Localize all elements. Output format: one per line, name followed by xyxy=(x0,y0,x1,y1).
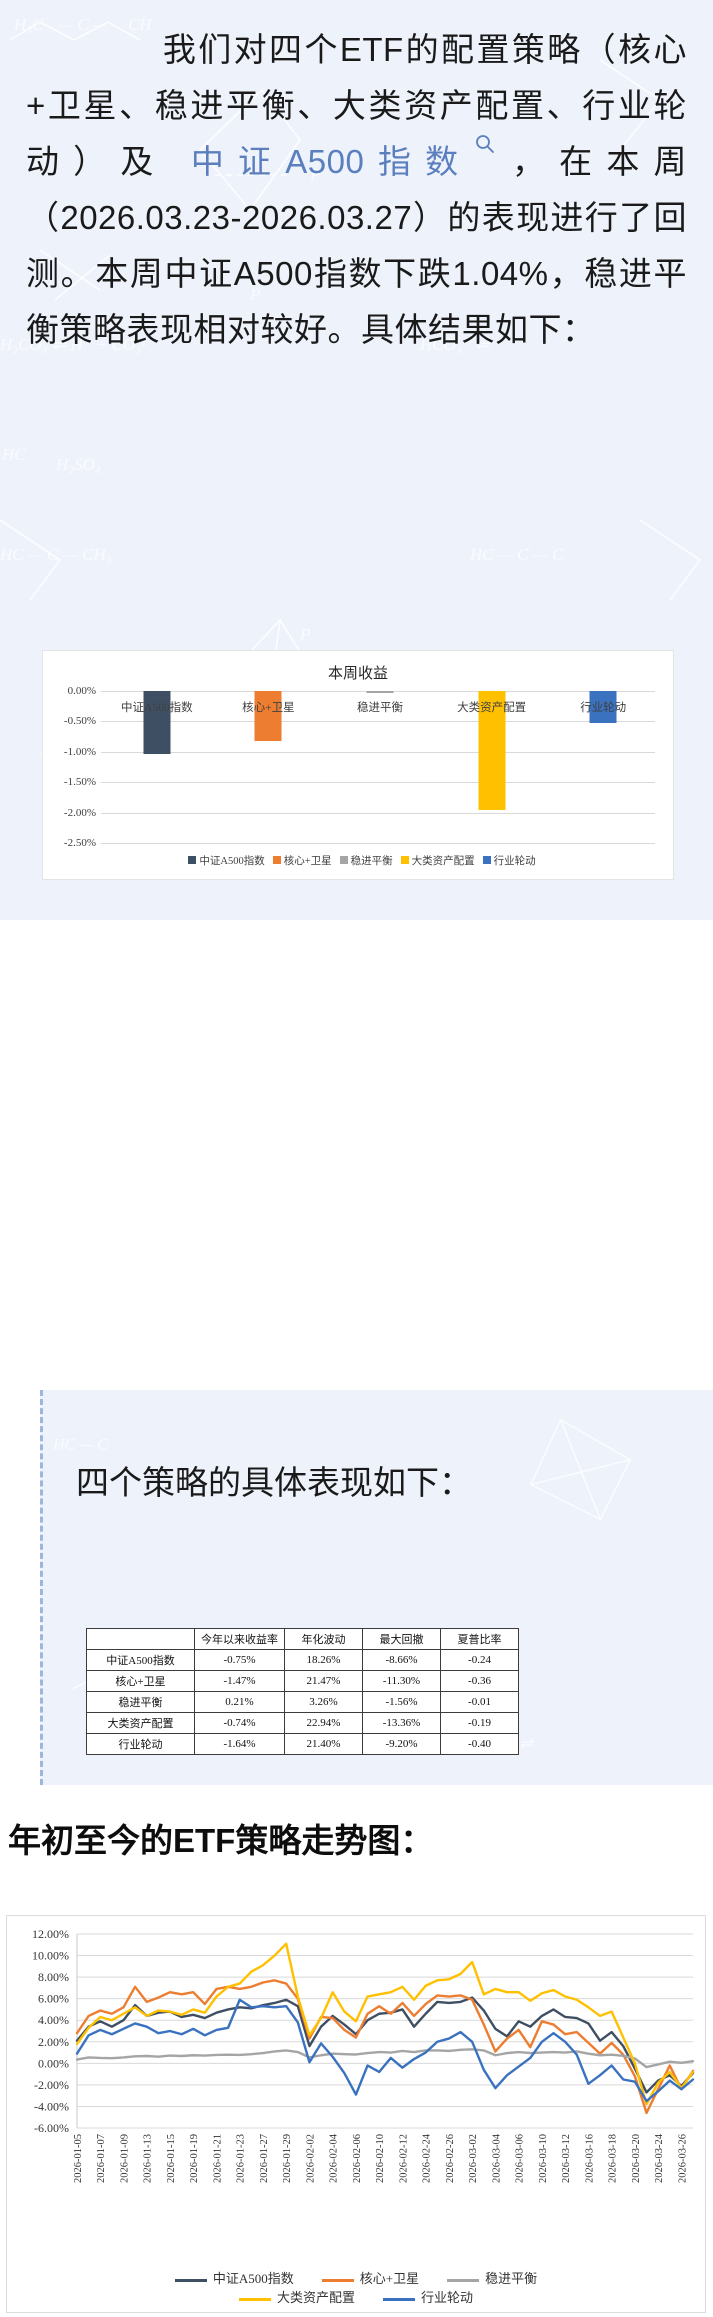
line-chart-y-tick-label: 6.00% xyxy=(38,1992,69,2006)
bar-chart-y-tick-label: -1.50% xyxy=(64,776,96,788)
line-chart-y-tick-label: -2.00% xyxy=(34,2078,69,2092)
table-cell: -1.56% xyxy=(363,1692,441,1713)
line-chart-svg: 12.00%10.00%8.00%6.00%4.00%2.00%0.00%-2.… xyxy=(7,1916,707,2314)
line-chart-x-tick-label: 2026-01-27 xyxy=(259,2134,270,2183)
table-col-header-1: 今年以来收益率 xyxy=(195,1629,285,1650)
line-chart-x-tick-label: 2026-01-23 xyxy=(236,2134,247,2183)
table-cell: -1.64% xyxy=(195,1734,285,1755)
line-chart-x-tick-label: 2026-03-12 xyxy=(561,2134,572,2183)
table-row: 核心+卫星-1.47%21.47%-11.30%-0.36 xyxy=(87,1671,519,1692)
line-chart-y-tick-label: 8.00% xyxy=(38,1970,69,1984)
line-chart-x-tick-label: 2026-01-21 xyxy=(212,2134,223,2183)
svg-text:HC — C — CH₃: HC — C — CH₃ xyxy=(0,545,112,564)
table-row: 行业轮动-1.64%21.40%-9.20%-0.40 xyxy=(87,1734,519,1755)
table-cell: 21.47% xyxy=(285,1671,363,1692)
bar-chart-bar xyxy=(366,691,393,693)
line-chart-x-tick-label: 2026-01-13 xyxy=(143,2134,154,2183)
svg-text:P: P xyxy=(299,625,310,644)
line-chart-y-tick-label: 4.00% xyxy=(38,2013,69,2027)
bar-legend-label: 核心+卫星 xyxy=(284,856,332,867)
line-chart-x-tick-label: 2026-02-04 xyxy=(329,2133,340,2183)
table-cell: -0.19 xyxy=(441,1713,519,1734)
table-cell: -8.66% xyxy=(363,1650,441,1671)
line-chart-series xyxy=(77,1944,693,2105)
table-cell: -1.47% xyxy=(195,1671,285,1692)
table-row-label: 核心+卫星 xyxy=(87,1671,195,1692)
table-cell: -9.20% xyxy=(363,1734,441,1755)
line-legend-swatch xyxy=(322,2279,354,2282)
line-legend-label: 稳进平衡 xyxy=(485,2271,537,2286)
table-cell: 3.26% xyxy=(285,1692,363,1713)
bar-chart-category-label: 大类资产配置 xyxy=(457,699,526,715)
bar-legend-swatch xyxy=(273,856,281,864)
table-cell: -0.01 xyxy=(441,1692,519,1713)
line-chart-x-tick-label: 2026-03-26 xyxy=(677,2134,688,2183)
line-legend-label: 核心+卫星 xyxy=(360,2271,419,2286)
line-chart-x-tick-label: 2026-01-15 xyxy=(166,2134,177,2183)
line-chart-x-tick-label: 2026-02-02 xyxy=(305,2134,316,2183)
search-icon[interactable] xyxy=(474,139,496,161)
line-chart-x-tick-label: 2026-02-12 xyxy=(398,2134,409,2183)
table-cell: -0.40 xyxy=(441,1734,519,1755)
svg-text:H₂SO₄: H₂SO₄ xyxy=(55,455,101,474)
intro-card: H₃C— C —CH HCH₂SO₄ HC — C — CH₃ HC — C —… xyxy=(0,0,713,920)
line-chart-x-tick-label: 2026-03-20 xyxy=(631,2134,642,2183)
bar-chart-title: 本周收益 xyxy=(43,662,673,683)
bar-legend-label: 中证A500指数 xyxy=(199,856,264,867)
line-chart-x-tick-label: 2026-03-06 xyxy=(515,2134,526,2183)
line-legend-item: 大类资产配置 xyxy=(239,2287,355,2306)
table-col-header-2: 年化波动 xyxy=(285,1629,363,1650)
bar-chart-category-label: 稳进平衡 xyxy=(357,699,403,715)
table-row: 大类资产配置-0.74%22.94%-13.36%-0.19 xyxy=(87,1713,519,1734)
line-chart-x-tick-label: 2026-03-04 xyxy=(491,2133,502,2183)
table-cell: 0.21% xyxy=(195,1692,285,1713)
line-chart-x-tick-label: 2026-01-19 xyxy=(189,2134,200,2183)
table-cell: -0.24 xyxy=(441,1650,519,1671)
table-col-header-0 xyxy=(87,1629,195,1650)
table-cell: -0.74% xyxy=(195,1713,285,1734)
svg-text:HC: HC xyxy=(1,445,26,464)
line-legend-item: 稳进平衡 xyxy=(447,2268,537,2287)
table-row: 稳进平衡0.21%3.26%-1.56%-0.01 xyxy=(87,1692,519,1713)
line-chart-x-tick-label: 2026-02-24 xyxy=(422,2133,433,2183)
bar-chart-category-label: 核心+卫星 xyxy=(242,699,295,715)
table-cell: 21.40% xyxy=(285,1734,363,1755)
line-chart-y-tick-label: 0.00% xyxy=(38,2056,69,2070)
line-chart-x-tick-label: 2026-03-18 xyxy=(608,2134,619,2183)
table-col-header-3: 最大回撤 xyxy=(363,1629,441,1650)
table-cell: -0.75% xyxy=(195,1650,285,1671)
bar-chart-column: 中证A500指数 xyxy=(101,691,213,843)
bar-chart-gridline: -2.50% xyxy=(101,843,655,844)
bar-legend-label: 大类资产配置 xyxy=(412,856,475,867)
line-chart-x-tick-label: 2026-01-29 xyxy=(282,2134,293,2183)
bar-legend-swatch xyxy=(401,856,409,864)
line-chart-y-tick-label: -4.00% xyxy=(34,2099,69,2113)
bar-chart-y-tick-label: 0.00% xyxy=(68,685,96,697)
table-row-label: 中证A500指数 xyxy=(87,1650,195,1671)
line-chart-y-tick-label: 12.00% xyxy=(32,1927,69,1941)
bar-chart-y-tick-label: -1.00% xyxy=(64,746,96,758)
line-chart-x-tick-label: 2026-03-16 xyxy=(584,2134,595,2183)
line-legend-swatch xyxy=(383,2298,415,2301)
line-chart-x-tick-label: 2026-01-07 xyxy=(96,2134,107,2183)
svg-text:HC — C — C: HC — C — C xyxy=(469,545,564,564)
bar-chart-plot-area: 0.00%-0.50%-1.00%-1.50%-2.00%-2.50%中证A50… xyxy=(101,691,659,843)
line-chart-x-tick-label: 2026-03-24 xyxy=(654,2133,665,2183)
table-header-row: 今年以来收益率 年化波动 最大回撤 夏普比率 xyxy=(87,1629,519,1650)
bar-legend-label: 稳进平衡 xyxy=(351,856,393,867)
section-2-heading: 四个策略的具体表现如下： xyxy=(76,1455,676,1511)
table-cell: 18.26% xyxy=(285,1650,363,1671)
line-chart-y-tick-label: 10.00% xyxy=(32,1949,69,1963)
table-cell: 22.94% xyxy=(285,1713,363,1734)
ytd-trend-line-chart: 12.00%10.00%8.00%6.00%4.00%2.00%0.00%-2.… xyxy=(6,1915,706,2313)
bar-legend-swatch xyxy=(483,856,491,864)
line-legend-swatch xyxy=(239,2298,271,2301)
bar-chart-y-tick-label: -0.50% xyxy=(64,715,96,727)
line-chart-x-tick-label: 2026-01-05 xyxy=(73,2134,84,2183)
line-chart-y-tick-label: -6.00% xyxy=(34,2121,69,2135)
line-chart-x-tick-label: 2026-01-09 xyxy=(119,2134,130,2183)
intro-paragraph: 我们对四个ETF的配置策略（核心+卫星、稳进平衡、大类资产配置、行业轮动）及 中… xyxy=(26,22,687,358)
line-legend-label: 大类资产配置 xyxy=(277,2290,355,2305)
bar-chart-y-tick-label: -2.00% xyxy=(64,807,96,819)
bar-chart-column: 核心+卫星 xyxy=(213,691,325,843)
table-row-label: 行业轮动 xyxy=(87,1734,195,1755)
bar-chart-legend: 中证A500指数核心+卫星稳进平衡大类资产配置行业轮动 xyxy=(43,853,673,868)
table-row: 中证A500指数-0.75%18.26%-8.66%-0.24 xyxy=(87,1650,519,1671)
line-chart-x-tick-label: 2026-02-06 xyxy=(352,2134,363,2183)
line-legend-swatch xyxy=(447,2279,479,2282)
table-row-label: 稳进平衡 xyxy=(87,1692,195,1713)
line-chart-x-tick-label: 2026-02-10 xyxy=(375,2134,386,2183)
bar-legend-label: 行业轮动 xyxy=(494,856,536,867)
line-chart-legend: 中证A500指数核心+卫星稳进平衡大类资产配置行业轮动 xyxy=(7,2268,705,2306)
table-col-header-4: 夏普比率 xyxy=(441,1629,519,1650)
table-cell: -13.36% xyxy=(363,1713,441,1734)
bar-chart-column: 稳进平衡 xyxy=(324,691,436,843)
section-3-heading: 年初至今的ETF策略走势图： xyxy=(8,1818,708,1864)
table-cell: -0.36 xyxy=(441,1671,519,1692)
bar-chart-column: 行业轮动 xyxy=(547,691,659,843)
line-legend-item: 中证A500指数 xyxy=(175,2268,294,2287)
article-page: H₃C— C —CH HCH₂SO₄ HC — C — CH₃ HC — C —… xyxy=(0,0,713,2317)
svg-text:HC — C: HC — C xyxy=(52,1437,108,1454)
line-legend-swatch xyxy=(175,2279,207,2282)
line-chart-series xyxy=(77,1980,693,2113)
line-legend-item: 核心+卫星 xyxy=(322,2268,419,2287)
line-legend-label: 行业轮动 xyxy=(421,2290,473,2305)
table-cell: -11.30% xyxy=(363,1671,441,1692)
weekly-return-bar-chart: 本周收益 0.00%-0.50%-1.00%-1.50%-2.00%-2.50%… xyxy=(42,650,674,880)
performance-table: 今年以来收益率 年化波动 最大回撤 夏普比率 中证A500指数-0.75%18.… xyxy=(86,1628,519,1755)
bar-legend-swatch xyxy=(340,856,348,864)
line-chart-y-tick-label: 2.00% xyxy=(38,2035,69,2049)
line-chart-x-tick-label: 2026-03-10 xyxy=(538,2134,549,2183)
line-chart-x-tick-label: 2026-03-02 xyxy=(468,2134,479,2183)
bar-chart-category-label: 行业轮动 xyxy=(580,699,626,715)
table-row-label: 大类资产配置 xyxy=(87,1713,195,1734)
index-link[interactable]: 中证A500指数 xyxy=(191,143,472,180)
line-legend-label: 中证A500指数 xyxy=(213,2271,294,2286)
line-chart-x-tick-label: 2026-02-26 xyxy=(445,2134,456,2183)
bar-chart-column: 大类资产配置 xyxy=(436,691,548,843)
bar-chart-y-tick-label: -2.50% xyxy=(64,837,96,849)
line-legend-item: 行业轮动 xyxy=(383,2287,473,2306)
bar-legend-swatch xyxy=(188,856,196,864)
bar-chart-category-label: 中证A500指数 xyxy=(121,699,193,715)
